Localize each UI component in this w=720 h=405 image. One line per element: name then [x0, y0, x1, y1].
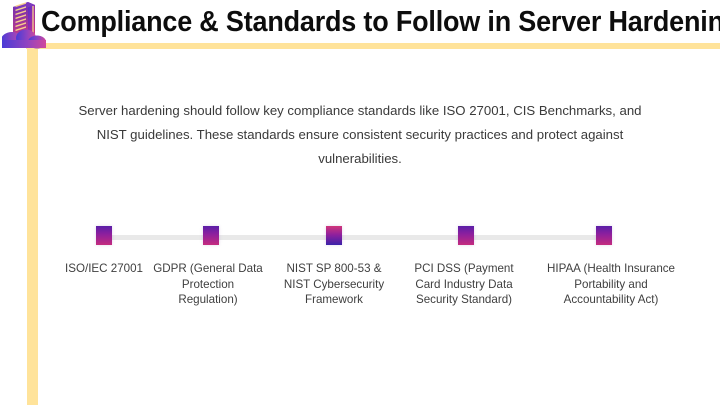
timeline-marker-3[interactable]	[326, 226, 342, 245]
slide-canvas: Compliance & Standards to Follow in Serv…	[0, 0, 720, 405]
timeline-track	[101, 235, 609, 240]
timeline-labels: ISO/IEC 27001 GDPR (General Data Protect…	[0, 261, 720, 361]
timeline-label-5: HIPAA (Health Insurance Portability and …	[538, 261, 684, 308]
timeline-marker-2[interactable]	[203, 226, 219, 245]
slide-header: Compliance & Standards to Follow in Serv…	[0, 0, 720, 44]
title-underline-rule	[26, 43, 720, 49]
timeline-label-4: PCI DSS (Payment Card Industry Data Secu…	[404, 261, 524, 308]
page-title: Compliance & Standards to Follow in Serv…	[41, 4, 655, 40]
timeline-label-2: GDPR (General Data Protection Regulation…	[152, 261, 264, 308]
timeline-marker-5[interactable]	[596, 226, 612, 245]
timeline-marker-1[interactable]	[96, 226, 112, 245]
timeline-label-1: ISO/IEC 27001	[52, 261, 156, 277]
compliance-timeline	[0, 226, 720, 252]
timeline-label-3: NIST SP 800-53 & NIST Cybersecurity Fram…	[276, 261, 392, 308]
server-rack-cloud-icon	[2, 0, 48, 50]
timeline-marker-4[interactable]	[458, 226, 474, 245]
body-paragraph: Server hardening should follow key compl…	[78, 99, 642, 171]
